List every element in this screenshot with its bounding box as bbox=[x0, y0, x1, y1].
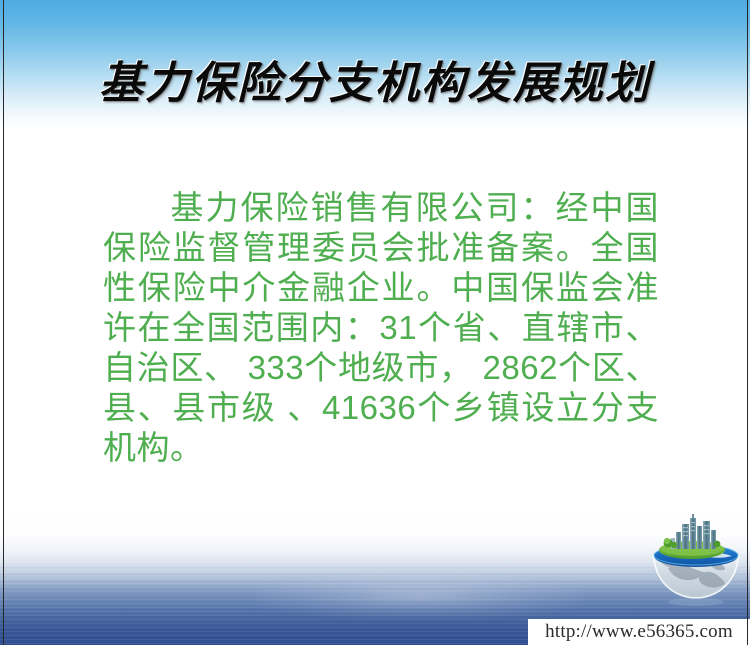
globe-reflection bbox=[668, 598, 724, 606]
slide-border-right bbox=[747, 0, 748, 645]
watermark-url: http://www.e56365.com bbox=[545, 619, 733, 645]
paragraph-text: 基力保险销售有限公司：经中国保险监督管理委员会批准备案。全国性保险中介金融企业。… bbox=[103, 189, 659, 466]
globe-city-skyline bbox=[671, 514, 716, 549]
presentation-slide: 基力保险分支机构发展规划 基力保险销售有限公司：经中国保险监督管理委员会批准备案… bbox=[0, 0, 750, 645]
earth-city-globe-icon bbox=[648, 512, 744, 612]
slide-title: 基力保险分支机构发展规划 bbox=[0, 57, 750, 111]
slide-body-paragraph: 基力保险销售有限公司：经中国保险监督管理委员会批准备案。全国性保险中介金融企业。… bbox=[103, 188, 659, 468]
site-watermark: http://www.e56365.com bbox=[528, 619, 750, 645]
slide-border-left bbox=[3, 0, 4, 645]
